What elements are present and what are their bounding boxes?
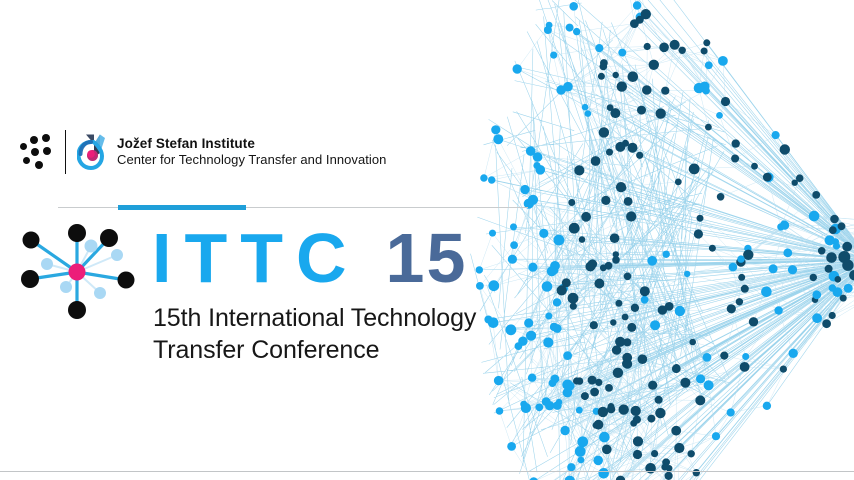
network-node-icon — [14, 222, 140, 322]
dot-matrix-icon — [18, 130, 58, 174]
institute-subtitle: Center for Technology Transfer and Innov… — [117, 152, 386, 168]
institute-text-block: Jožef Stefan Institute Center for Techno… — [117, 136, 386, 169]
institute-title: Jožef Stefan Institute — [117, 136, 386, 152]
event-edition-number: 15 — [386, 223, 468, 293]
institute-logo: Jožef Stefan Institute Center for Techno… — [18, 126, 386, 178]
ctt-droplet-icon — [77, 133, 107, 171]
divider — [58, 205, 528, 211]
event-title-line-2: Transfer Conference — [153, 334, 583, 366]
footer-hairline-icon — [0, 471, 854, 472]
event-wordmark: ITTC 15 — [152, 222, 467, 294]
event-acronym: ITTC — [152, 223, 360, 293]
banner-canvas: Jožef Stefan Institute Center for Techno… — [0, 0, 854, 480]
network-graph-illustration — [470, 0, 854, 480]
vertical-rule-icon — [65, 130, 66, 174]
accent-bar-icon — [118, 205, 246, 210]
event-title-line-1: 15th International Technology — [153, 302, 583, 334]
network-graph-svg — [470, 0, 854, 480]
event-title: 15th International Technology Transfer C… — [153, 302, 583, 366]
